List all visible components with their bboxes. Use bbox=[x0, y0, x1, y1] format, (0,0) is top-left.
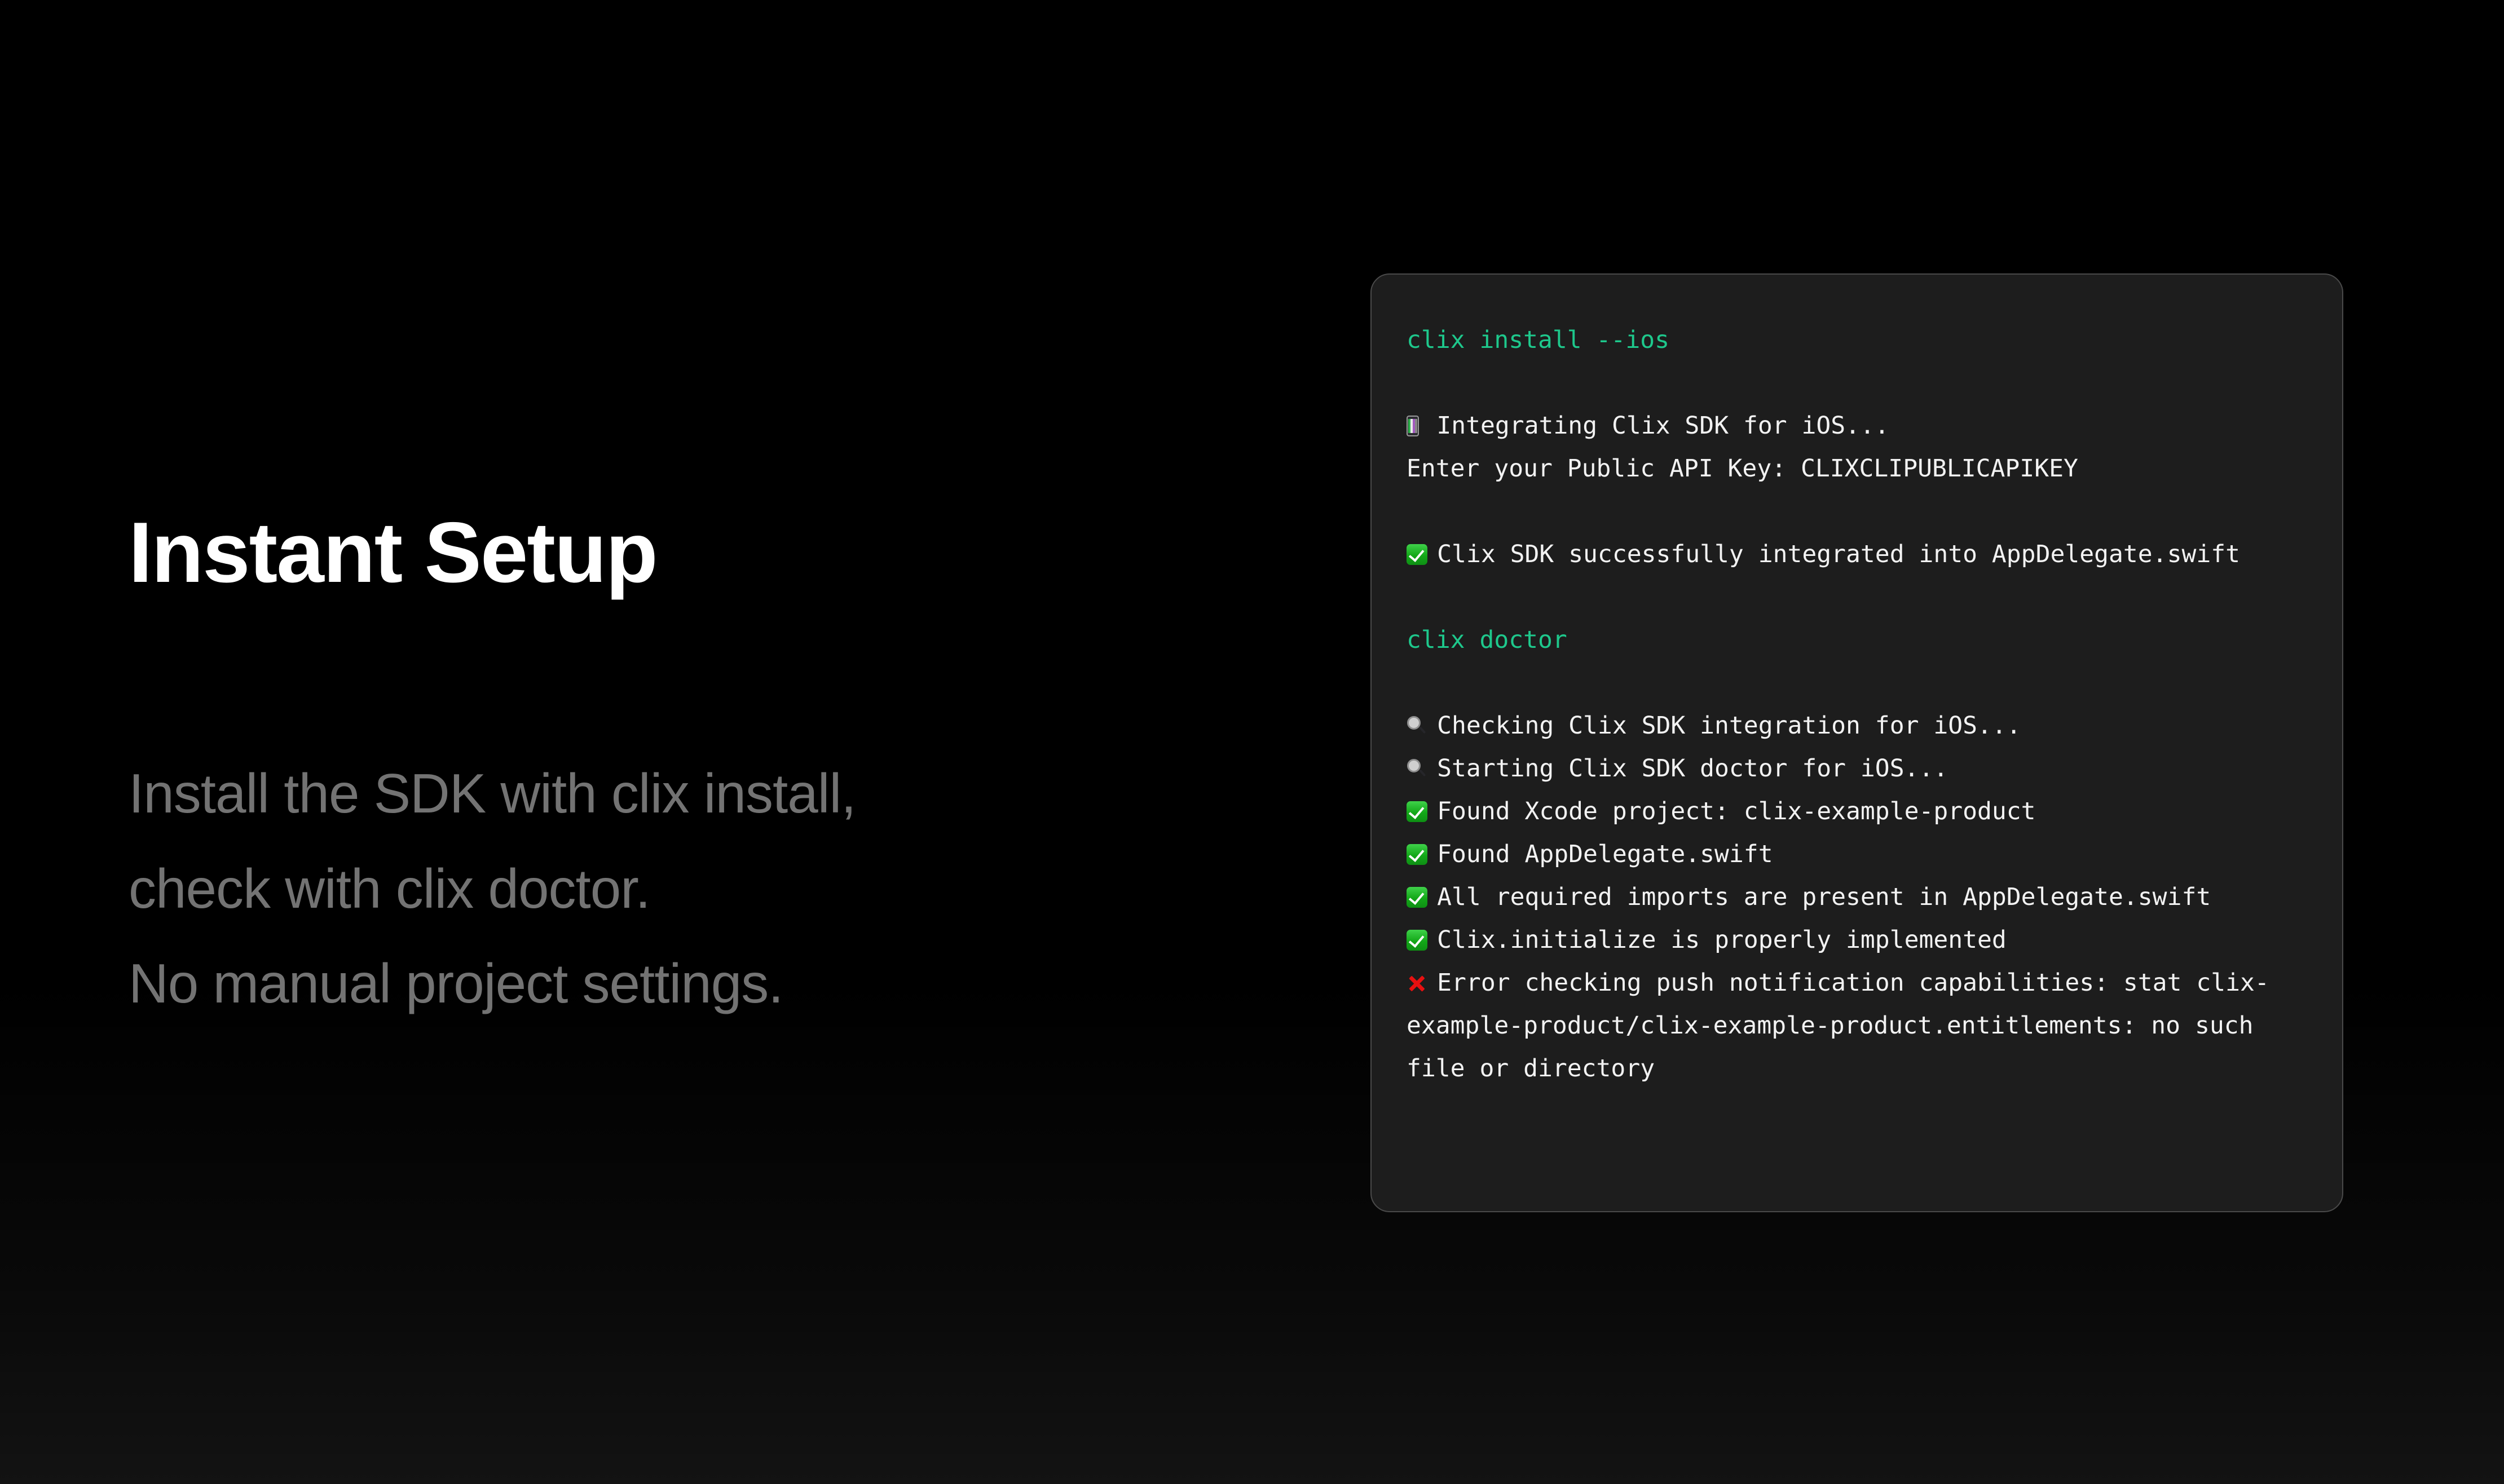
terminal-blank-line bbox=[1407, 490, 2308, 533]
check-mark-icon bbox=[1407, 930, 1427, 951]
terminal-command-line: clix doctor bbox=[1407, 619, 2308, 661]
page-title: Instant Setup bbox=[129, 507, 1285, 598]
terminal-output: clix install --ios Integrating Clix SDK … bbox=[1407, 319, 2308, 1090]
terminal-output-line: Found AppDelegate.swift bbox=[1407, 833, 2308, 876]
terminal-output-line: Checking Clix SDK integration for iOS... bbox=[1407, 704, 2308, 747]
mobile-phone-icon bbox=[1407, 416, 1419, 436]
magnifying-glass-icon bbox=[1407, 758, 1427, 779]
terminal-line-text: Error checking push notification capabil… bbox=[1407, 969, 2269, 1083]
subcopy-line: No manual project settings. bbox=[129, 936, 1285, 1031]
magnifying-glass-icon bbox=[1407, 715, 1427, 736]
terminal-output-line: All required imports are present in AppD… bbox=[1407, 876, 2308, 918]
terminal-line-text: Enter your Public API Key: CLIXCLIPUBLIC… bbox=[1407, 454, 2078, 483]
terminal-output-line: Error checking push notification capabil… bbox=[1407, 961, 2308, 1090]
terminal-line-text: clix install --ios bbox=[1407, 326, 1669, 354]
check-mark-icon bbox=[1407, 887, 1427, 908]
terminal-line-text: Found AppDelegate.swift bbox=[1437, 840, 1773, 868]
terminal-line-text: Clix.initialize is properly implemented bbox=[1437, 926, 2007, 954]
check-mark-icon bbox=[1407, 801, 1427, 822]
cross-mark-icon bbox=[1407, 973, 1427, 993]
hero-subcopy: Install the SDK with clix install, check… bbox=[129, 746, 1285, 1031]
terminal-line-text: Clix SDK successfully integrated into Ap… bbox=[1437, 540, 2240, 568]
terminal-output-line: Clix.initialize is properly implemented bbox=[1407, 918, 2308, 961]
terminal-output-line: Clix SDK successfully integrated into Ap… bbox=[1407, 533, 2308, 576]
slide-canvas: Instant Setup Install the SDK with clix … bbox=[0, 0, 2504, 1484]
terminal-line-text: All required imports are present in AppD… bbox=[1437, 883, 2211, 911]
terminal-blank-line bbox=[1407, 361, 2308, 404]
hero-copy-block: Instant Setup Install the SDK with clix … bbox=[129, 507, 1285, 1031]
terminal-line-text: Checking Clix SDK integration for iOS... bbox=[1437, 712, 2021, 740]
terminal-blank-line bbox=[1407, 661, 2308, 704]
check-mark-icon bbox=[1407, 844, 1427, 865]
terminal-output-line: Found Xcode project: clix-example-produc… bbox=[1407, 790, 2308, 833]
subcopy-line: check with clix doctor. bbox=[129, 841, 1285, 937]
terminal-line-text: clix doctor bbox=[1407, 626, 1567, 654]
terminal-output-line: Starting Clix SDK doctor for iOS... bbox=[1407, 747, 2308, 790]
terminal-output-line: Enter your Public API Key: CLIXCLIPUBLIC… bbox=[1407, 447, 2308, 490]
terminal-line-text: Starting Clix SDK doctor for iOS... bbox=[1437, 754, 1948, 783]
check-mark-icon bbox=[1407, 544, 1427, 565]
subcopy-line: Install the SDK with clix install, bbox=[129, 746, 1285, 841]
terminal-line-text: Integrating Clix SDK for iOS... bbox=[1436, 412, 1889, 440]
terminal-output-line: Integrating Clix SDK for iOS... bbox=[1407, 404, 2308, 447]
terminal-command-line: clix install --ios bbox=[1407, 319, 2308, 361]
terminal-panel: clix install --ios Integrating Clix SDK … bbox=[1370, 273, 2343, 1212]
terminal-line-text: Found Xcode project: clix-example-produc… bbox=[1437, 797, 2035, 825]
terminal-blank-line bbox=[1407, 576, 2308, 619]
